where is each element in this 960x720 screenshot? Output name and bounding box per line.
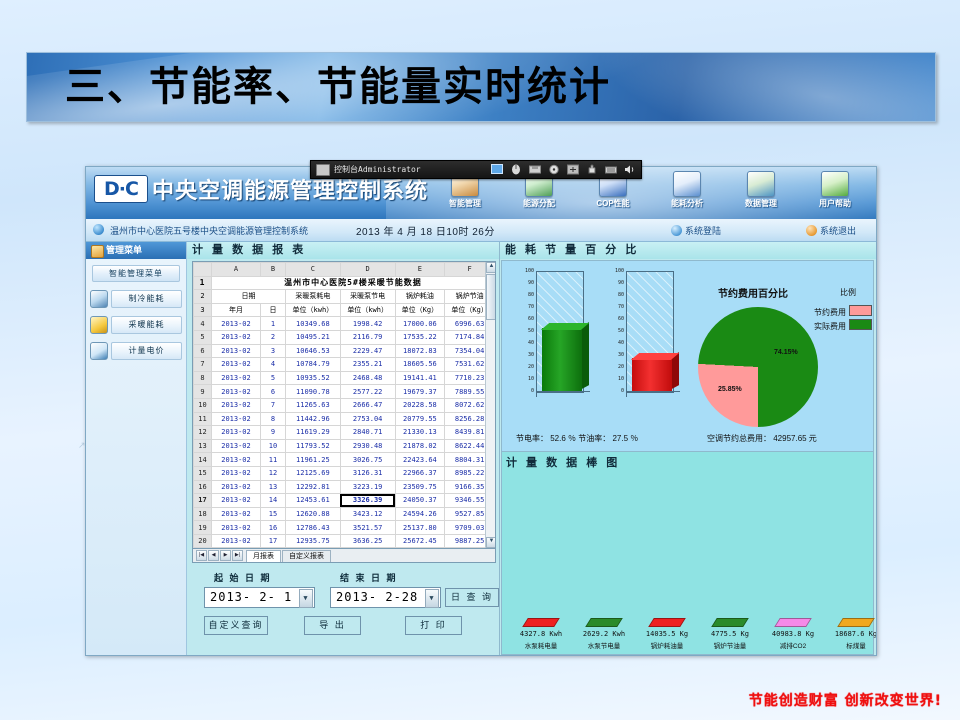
table-row: 122013-02911619.292840.7121330.138439.81 bbox=[194, 426, 495, 440]
heating-icon bbox=[90, 316, 108, 334]
bar-value: 4775.5 Kg bbox=[699, 630, 761, 638]
book-icon bbox=[673, 171, 701, 197]
axis-tick: 80 bbox=[618, 292, 624, 298]
app-sub-header: 温州市中心医院五号楼中央空调能源管理控制系统 2013 年 4 月 18 日10… bbox=[86, 219, 876, 242]
end-date-label: 结 束 日 期 bbox=[340, 571, 398, 584]
saving-rate-text: 节电率： 52.6 ％ 节油率： 27.5 ％ bbox=[516, 433, 638, 444]
charts-column: 能 耗 节 量 百 分 比 1009080706050403020100 100… bbox=[499, 242, 876, 656]
axis-tick: 90 bbox=[618, 280, 624, 286]
nav-item-consumption-analysis[interactable]: 能耗分析 bbox=[650, 168, 724, 209]
table-row: 1温州市中心医院5#楼采暖节能数据 bbox=[194, 276, 495, 290]
app-logo: D·C bbox=[94, 175, 148, 203]
axis-tick: 10 bbox=[618, 376, 624, 382]
system-datetime: 2013 年 4 月 18 日10时 26分 bbox=[356, 223, 495, 238]
pie-legend-title: 比例 bbox=[840, 287, 856, 298]
legend-label: 节约费用 bbox=[814, 308, 846, 317]
table-row: 92013-02611090.782577.2219679.377889.55 bbox=[194, 385, 495, 399]
axis-tick: 100 bbox=[615, 268, 624, 274]
axis-tick: 40 bbox=[528, 340, 534, 346]
axis-tick: 20 bbox=[528, 364, 534, 370]
bar-value: 2629.2 Kwh bbox=[573, 630, 635, 638]
query-controls: 起 始 日 期 结 束 日 期 2013- 2- 1 ▼ 2013- 2-28 … bbox=[192, 567, 496, 653]
gauge-base bbox=[536, 391, 590, 397]
system-login-button[interactable]: 系统登陆 bbox=[671, 224, 721, 237]
console-title: 控制台Administrator bbox=[334, 164, 421, 175]
bar-label: 水泵耗电量 bbox=[510, 640, 572, 650]
start-date-value: 2013- 2- 1 bbox=[210, 590, 292, 604]
chevron-down-icon[interactable]: ▼ bbox=[299, 589, 313, 608]
table-row: 202013-021712935.753636.2525672.459887.2… bbox=[194, 534, 495, 548]
system-icon bbox=[93, 224, 104, 235]
cooling-icon bbox=[90, 290, 108, 308]
bar-label: 水泵节电量 bbox=[573, 640, 635, 650]
gauge-base bbox=[626, 391, 680, 397]
floppy-icon[interactable] bbox=[529, 164, 541, 175]
hand-icon[interactable] bbox=[586, 164, 598, 175]
sidebar-item-price[interactable]: 计量电价 bbox=[90, 342, 182, 360]
system-logout-button[interactable]: 系统退出 bbox=[806, 224, 856, 237]
bar-slab bbox=[837, 618, 875, 627]
chevron-down-icon[interactable]: ▼ bbox=[425, 589, 439, 608]
keyboard-icon[interactable] bbox=[605, 164, 617, 175]
console-icon-group bbox=[491, 164, 641, 175]
sidebar-main-button[interactable]: 智能管理菜单 bbox=[92, 265, 180, 282]
bar-slab bbox=[648, 618, 686, 627]
page-title: 三、节能率、节能量实时统计 bbox=[27, 53, 935, 121]
table-row: 212013-021813085.213750.7926206.0110065.… bbox=[194, 548, 495, 549]
logout-label: 系统退出 bbox=[820, 226, 856, 236]
nav-label: 智能管理 bbox=[428, 198, 502, 209]
monitor-icon bbox=[316, 164, 330, 176]
application-window: D·C 中央空调能源管理控制系统 智能管理 能源分配 COP性能 能耗分析 数据… bbox=[85, 166, 877, 656]
nav-item-user-help[interactable]: 用户帮助 bbox=[798, 168, 872, 209]
pie-chart bbox=[698, 307, 818, 427]
axis-tick: 40 bbox=[618, 340, 624, 346]
report-table: ABCDEF1温州市中心医院5#楼采暖节能数据2日期采暖泵耗电采暖泵节电锅炉耗油… bbox=[193, 262, 495, 549]
sidebar-item-cooling[interactable]: 制冷能耗 bbox=[90, 290, 182, 308]
bar-slab bbox=[522, 618, 560, 627]
bar-label: 锅炉耗油量 bbox=[636, 640, 698, 650]
sidebar-item-label: 制冷能耗 bbox=[111, 290, 182, 308]
axis-tick: 100 bbox=[525, 268, 534, 274]
bar-item: 40983.8 Kg减排CO2 bbox=[762, 618, 824, 650]
bar-item: 18687.6 Kg标煤量 bbox=[825, 618, 877, 650]
axis-tick: 30 bbox=[618, 352, 624, 358]
bar-slab bbox=[585, 618, 623, 627]
nav-item-data-management[interactable]: 数据管理 bbox=[724, 168, 798, 209]
axis-tick: 50 bbox=[528, 328, 534, 334]
axis-tick: 90 bbox=[528, 280, 534, 286]
nav-label: 数据管理 bbox=[724, 198, 798, 209]
table-row: 112013-02811442.962753.0420779.558256.28 bbox=[194, 412, 495, 426]
sheet-nav-arrows[interactable]: |◀ ◀ ▶ ▶| bbox=[193, 550, 246, 561]
cd-icon[interactable] bbox=[548, 164, 560, 175]
login-label: 系统登陆 bbox=[685, 226, 721, 236]
footer-slogan: 节能创造财富 创新改变世界! bbox=[749, 690, 942, 710]
axis-tick: 20 bbox=[618, 364, 624, 370]
price-icon bbox=[90, 342, 108, 360]
slide-title-banner: 三、节能率、节能量实时统计 bbox=[26, 52, 936, 122]
last-sheet-icon[interactable]: ▶| bbox=[232, 550, 243, 561]
console-toolbar[interactable]: 控制台Administrator bbox=[310, 160, 642, 179]
bar-value: 40983.8 Kg bbox=[762, 630, 824, 638]
start-date-label: 起 始 日 期 bbox=[214, 571, 272, 584]
axis-tick: 30 bbox=[528, 352, 534, 358]
bar-item: 14035.5 Kg锅炉耗油量 bbox=[636, 618, 698, 650]
table-row: 162013-021312292.813223.1923509.759166.3… bbox=[194, 480, 495, 494]
axis-tick: 50 bbox=[618, 328, 624, 334]
axis-tick: 70 bbox=[618, 304, 624, 310]
table-row: 3年月日单位（kwh）单位（kwh）单位（Kg）单位（Kg） bbox=[194, 303, 495, 317]
prev-sheet-icon[interactable]: ◀ bbox=[208, 550, 219, 561]
table-row: 172013-021412453.613326.3924050.379346.5… bbox=[194, 494, 495, 508]
scrollbar-thumb[interactable] bbox=[486, 274, 496, 320]
bar-item: 4327.8 Kwh水泵耗电量 bbox=[510, 618, 572, 650]
table-row: 182013-021512620.883423.1224594.269527.8… bbox=[194, 507, 495, 521]
system-name: 温州市中心医院五号楼中央空调能源管理控制系统 bbox=[110, 224, 308, 237]
axis-tick: 60 bbox=[528, 316, 534, 322]
bar-label: 锅炉节油量 bbox=[699, 640, 761, 650]
table-row: 62013-02310646.532229.4718072.837354.04 bbox=[194, 344, 495, 358]
axis-tick: 10 bbox=[528, 376, 534, 382]
gauge-bar-red bbox=[632, 358, 672, 391]
table-row: 2日期采暖泵耗电采暖泵节电锅炉耗油锅炉节油 bbox=[194, 290, 495, 304]
scroll-down-icon[interactable]: ▼ bbox=[486, 537, 496, 548]
table-row: 192013-021612786.433521.5725137.809709.0… bbox=[194, 521, 495, 535]
sidebar-item-label: 计量电价 bbox=[111, 342, 182, 360]
pie-chart-title: 节约费用百分比 bbox=[718, 285, 788, 300]
user-icon bbox=[821, 171, 849, 197]
screen-icon[interactable] bbox=[491, 164, 503, 175]
table-row: 142013-021111961.253026.7522423.648804.3… bbox=[194, 453, 495, 467]
app-body: 管理菜单 智能管理菜单 制冷能耗 采暖能耗 计量电价 计 量 数 据 报 表 A… bbox=[86, 242, 876, 656]
start-date-input[interactable]: 2013- 2- 1 ▼ bbox=[204, 587, 315, 608]
legend-swatch bbox=[849, 305, 872, 316]
end-date-value: 2013- 2-28 bbox=[336, 590, 418, 604]
nav-label: 能源分配 bbox=[502, 198, 576, 209]
volume-icon[interactable] bbox=[624, 164, 636, 175]
axis-tick: 80 bbox=[528, 292, 534, 298]
axis-tick: 0 bbox=[621, 388, 624, 394]
scroll-up-icon[interactable]: ▲ bbox=[486, 262, 496, 273]
print-button[interactable]: 打 印 bbox=[405, 616, 462, 635]
gauge-axis: 1009080706050403020100 bbox=[516, 271, 536, 391]
axis-tick: 60 bbox=[618, 316, 624, 322]
bar-slab bbox=[774, 618, 812, 627]
nav-label: 用户帮助 bbox=[798, 198, 872, 209]
table-row: 42013-02110349.681998.4217000.066996.63 bbox=[194, 317, 495, 331]
bar-value: 14035.5 Kg bbox=[636, 630, 698, 638]
nav-label: COP性能 bbox=[576, 198, 650, 209]
gauge-axis: 1009080706050403020100 bbox=[606, 271, 626, 391]
table-row: 52013-02210495.212116.7917535.227174.84 bbox=[194, 330, 495, 344]
table-row: 72013-02410784.792355.2118605.567531.62 bbox=[194, 358, 495, 372]
next-sheet-icon[interactable]: ▶ bbox=[220, 550, 231, 561]
report-panel: 计 量 数 据 报 表 ABCDEF1温州市中心医院5#楼采暖节能数据2日期采暖… bbox=[187, 242, 499, 656]
mouse-icon[interactable] bbox=[510, 164, 522, 175]
energy-panel-title: 能 耗 节 量 百 分 比 bbox=[500, 242, 876, 259]
legend-swatch bbox=[849, 319, 872, 330]
table-row: 132013-021011793.522930.4821878.028622.4… bbox=[194, 439, 495, 453]
bar-item: 4775.5 Kg锅炉节油量 bbox=[699, 618, 761, 650]
bar-value: 4327.8 Kwh bbox=[510, 630, 572, 638]
bar-label: 减排CO2 bbox=[762, 640, 824, 650]
folder-icon bbox=[747, 171, 775, 197]
fullscreen-icon[interactable] bbox=[567, 164, 579, 175]
bar-value: 18687.6 Kg bbox=[825, 630, 877, 638]
custom-query-button[interactable]: 自定义查询 bbox=[204, 616, 268, 635]
bar-item: 2629.2 Kwh水泵节电量 bbox=[573, 618, 635, 650]
axis-tick: 70 bbox=[528, 304, 534, 310]
login-icon bbox=[671, 225, 682, 236]
measurement-bar-chart: 计 量 数 据 棒 图 4327.8 Kwh水泵耗电量2629.2 Kwh水泵节… bbox=[501, 452, 874, 655]
report-panel-title: 计 量 数 据 报 表 bbox=[187, 242, 499, 259]
spreadsheet-vertical-scrollbar[interactable]: ▲ ▼ bbox=[485, 262, 495, 548]
legend-label: 实际费用 bbox=[814, 322, 846, 331]
day-query-button[interactable]: 日 查 询 bbox=[445, 588, 499, 607]
bar-label: 标煤量 bbox=[825, 640, 877, 650]
spreadsheet[interactable]: ABCDEF1温州市中心医院5#楼采暖节能数据2日期采暖泵耗电采暖泵节电锅炉耗油… bbox=[192, 261, 496, 549]
sidebar-item-label: 采暖能耗 bbox=[111, 316, 182, 334]
sidebar: 管理菜单 智能管理菜单 制冷能耗 采暖能耗 计量电价 bbox=[86, 242, 187, 656]
pie-slice-label-saving: 25.85% bbox=[718, 386, 742, 393]
sidebar-header: 管理菜单 bbox=[86, 242, 186, 259]
bar-panel-title: 计 量 数 据 棒 图 bbox=[506, 454, 620, 470]
sheet-tab-custom[interactable]: 自定义报表 bbox=[282, 550, 331, 562]
gauge-bar-green bbox=[542, 328, 582, 391]
nav-label: 能耗分析 bbox=[650, 198, 724, 209]
axis-tick: 0 bbox=[531, 388, 534, 394]
energy-percentage-chart: 1009080706050403020100 10090807060504030… bbox=[501, 260, 874, 452]
pie-legend-item-saving: 节约费用 bbox=[814, 305, 872, 318]
table-row: 82013-02510935.522468.4819141.417710.23 bbox=[194, 371, 495, 385]
first-sheet-icon[interactable]: |◀ bbox=[196, 550, 207, 561]
table-row: 102013-02711265.632666.4720228.588072.62 bbox=[194, 398, 495, 412]
logout-icon bbox=[806, 225, 817, 236]
sheet-tab-bar: |◀ ◀ ▶ ▶| 月报表 自定义报表 bbox=[192, 549, 496, 563]
bar-slab bbox=[711, 618, 749, 627]
sidebar-item-heating[interactable]: 采暖能耗 bbox=[90, 316, 182, 334]
pie-legend-item-actual: 实际费用 bbox=[814, 319, 872, 332]
end-date-input[interactable]: 2013- 2-28 ▼ bbox=[330, 587, 441, 608]
export-button[interactable]: 导 出 bbox=[304, 616, 361, 635]
pie-slice-label-actual: 74.15% bbox=[774, 349, 798, 356]
total-saving-text: 空调节约总费用： 42957.65 元 bbox=[707, 433, 817, 444]
sheet-tab-monthly[interactable]: 月报表 bbox=[246, 550, 281, 562]
table-row: 152013-021212125.693126.3122966.378985.2… bbox=[194, 466, 495, 480]
